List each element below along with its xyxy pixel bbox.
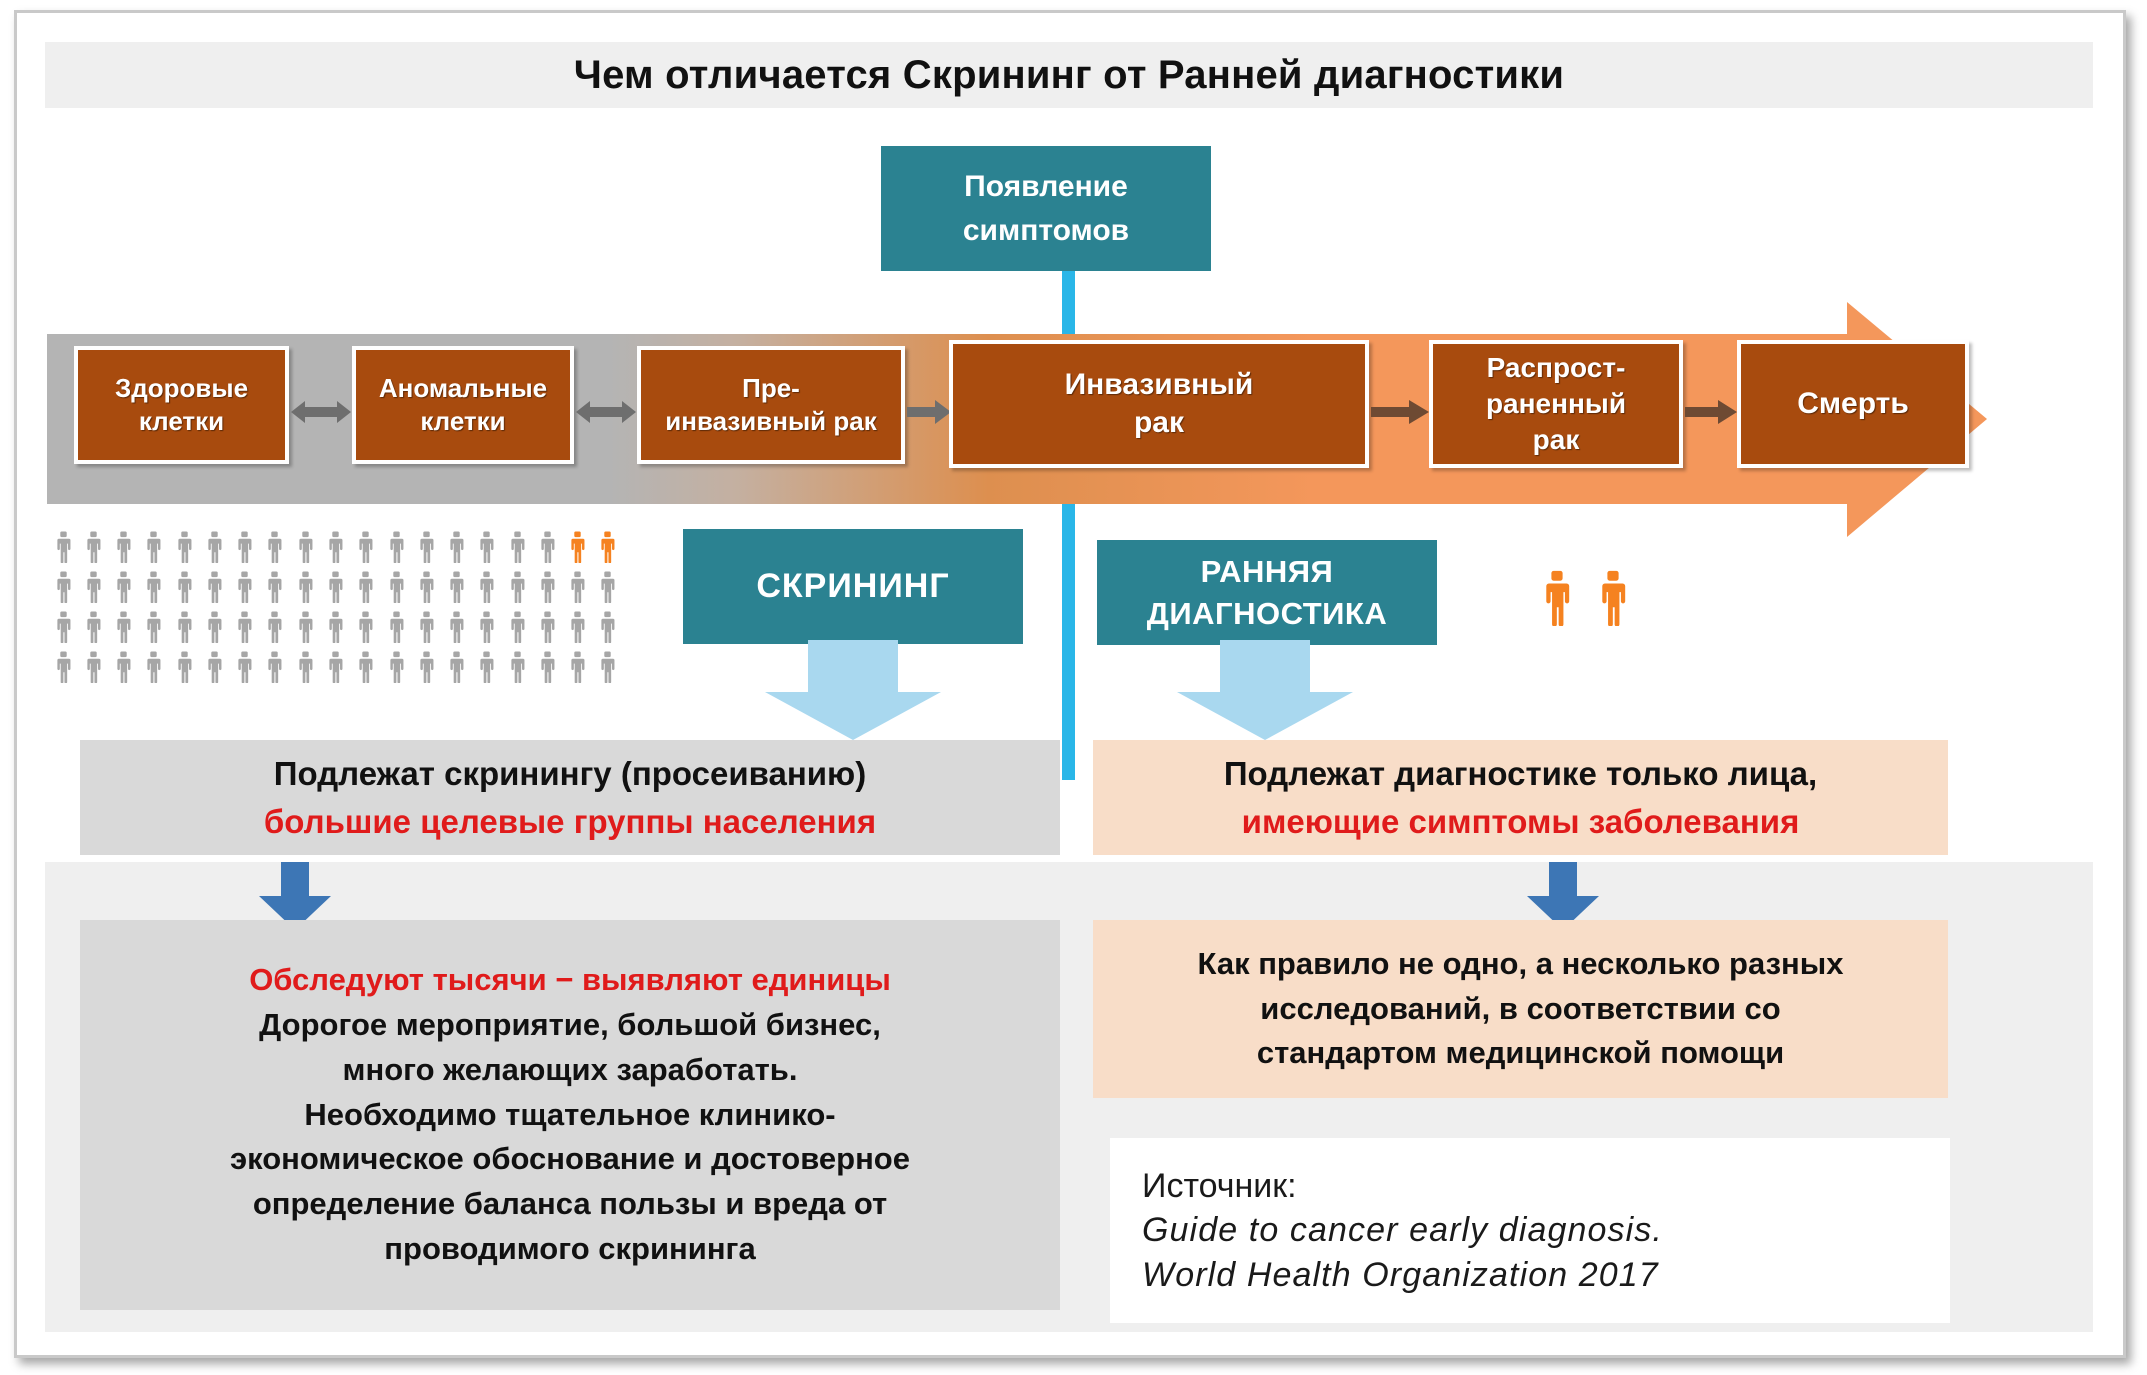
connector-double-arrow-1 xyxy=(291,397,351,427)
person-icon xyxy=(477,571,496,603)
person-highlighted xyxy=(593,527,623,567)
person-grey xyxy=(290,607,320,647)
person-grey xyxy=(351,527,381,567)
person-icon xyxy=(598,651,617,683)
person-grey xyxy=(230,567,260,607)
person-highlighted xyxy=(562,527,592,567)
person-icon xyxy=(356,611,375,643)
person-grey xyxy=(260,607,290,647)
person-icon xyxy=(568,651,587,683)
person-grey xyxy=(502,607,532,647)
person-grey xyxy=(109,567,139,607)
connector-arrow-5 xyxy=(1685,397,1737,427)
person-icon xyxy=(114,571,133,603)
person-icon xyxy=(538,571,557,603)
stage-1-line-1: Аномальные xyxy=(379,373,547,403)
person-grey xyxy=(78,647,108,687)
person-icon xyxy=(387,651,406,683)
person-grey xyxy=(411,527,441,567)
connector-arrow-4 xyxy=(1371,397,1429,427)
person-icon xyxy=(84,611,103,643)
screening-detail-line-7: проводимого скрининга xyxy=(384,1227,755,1272)
person-icon xyxy=(508,571,527,603)
person-grey xyxy=(320,607,350,647)
person-icon xyxy=(568,531,587,563)
stage-box-preinvasive-cancer: Пре- инвазивный рак xyxy=(637,346,905,464)
stage-3-line-2: рак xyxy=(1134,406,1184,439)
screening-detail-line-6: определение баланса пользы и вреда от xyxy=(253,1182,887,1227)
person-icon xyxy=(447,531,466,563)
person-icon xyxy=(477,651,496,683)
person-icon xyxy=(205,611,224,643)
person-icon xyxy=(447,651,466,683)
person-icon xyxy=(508,611,527,643)
stage-5-line-1: Смерть xyxy=(1797,385,1909,423)
person-grey xyxy=(562,647,592,687)
person-grey xyxy=(230,527,260,567)
person-grey xyxy=(109,647,139,687)
person-grey xyxy=(290,527,320,567)
screening-detail-line-4: Необходимо тщательное клинико- xyxy=(304,1093,835,1138)
person-icon xyxy=(568,571,587,603)
person-grey xyxy=(320,647,350,687)
stage-1-line-2: клетки xyxy=(420,406,505,436)
person-grey xyxy=(320,567,350,607)
diagnosis-target-line-2: имеющие симптомы заболевания xyxy=(1242,798,1800,846)
person-grey xyxy=(472,567,502,607)
person-icon xyxy=(205,651,224,683)
person-grey xyxy=(351,607,381,647)
stage-4-line-2: раненный xyxy=(1486,388,1626,419)
person-icon xyxy=(114,611,133,643)
person-grey xyxy=(351,647,381,687)
person-icon xyxy=(538,611,557,643)
person-icon xyxy=(538,651,557,683)
person-grey xyxy=(78,567,108,607)
person-icon xyxy=(144,571,163,603)
person-icon xyxy=(387,611,406,643)
screening-detail-line-2: Дорогое мероприятие, большой бизнес, xyxy=(259,1003,881,1048)
person-grey xyxy=(502,647,532,687)
stage-box-healthy-cells: Здоровые клетки xyxy=(74,346,289,464)
person-grey xyxy=(169,607,199,647)
person-icon xyxy=(356,651,375,683)
person-icon xyxy=(326,571,345,603)
person-grey xyxy=(199,647,229,687)
person-grey xyxy=(562,567,592,607)
screening-detail-line-1: Обследуют тысячи − выявляют единицы xyxy=(249,958,891,1003)
person-icon xyxy=(296,611,315,643)
person-icon xyxy=(447,611,466,643)
stage-box-invasive-cancer: Инвазивный рак xyxy=(949,340,1369,468)
person-grey xyxy=(290,567,320,607)
person-grey xyxy=(351,567,381,607)
person-icon xyxy=(1596,570,1630,626)
person-grey xyxy=(230,647,260,687)
early-diagnosis-label-box: РАННЯЯ ДИАГНОСТИКА xyxy=(1097,540,1437,645)
stage-0-line-2: клетки xyxy=(139,406,224,436)
stage-0-line-1: Здоровые xyxy=(115,373,248,403)
person-icon xyxy=(54,651,73,683)
person-grey xyxy=(411,567,441,607)
panel-screening-target: Подлежат скринингу (просеиванию) большие… xyxy=(80,740,1060,855)
person-icon xyxy=(175,571,194,603)
person-grey xyxy=(502,567,532,607)
person-grey xyxy=(381,647,411,687)
person-icon xyxy=(84,531,103,563)
person-icon xyxy=(114,651,133,683)
person-icon xyxy=(144,611,163,643)
person-grey xyxy=(260,567,290,607)
stage-2-line-2: инвазивный рак xyxy=(665,406,876,436)
person-icon xyxy=(175,611,194,643)
diagnosis-detail-line-1: Как правило не одно, а несколько разных xyxy=(1198,942,1844,987)
person-icon xyxy=(84,571,103,603)
source-line-1: Guide to cancer early diagnosis. xyxy=(1142,1208,1950,1253)
person-icon xyxy=(447,571,466,603)
person-icon xyxy=(598,531,617,563)
person-grey xyxy=(532,527,562,567)
person-icon xyxy=(417,531,436,563)
person-grey xyxy=(441,647,471,687)
person-icon xyxy=(326,611,345,643)
connector-arrow-3 xyxy=(907,397,951,427)
person-icon xyxy=(265,571,284,603)
screening-label-box: СКРИНИНГ xyxy=(683,529,1023,644)
person-grey xyxy=(199,607,229,647)
person-grey xyxy=(472,647,502,687)
person-grey xyxy=(260,647,290,687)
person-icon xyxy=(356,531,375,563)
person-icon xyxy=(356,571,375,603)
person-grey xyxy=(230,607,260,647)
early-diagnosis-down-arrow xyxy=(1148,640,1382,745)
symptoms-line-1: Появление xyxy=(964,165,1128,209)
symptomatic-people-pair xyxy=(1540,570,1645,630)
panel-diagnosis-target: Подлежат диагностике только лица, имеющи… xyxy=(1093,740,1948,855)
person-icon xyxy=(235,531,254,563)
source-line-2: World Health Organization 2017 xyxy=(1142,1253,1950,1298)
population-people-grid xyxy=(48,527,623,687)
person-icon xyxy=(477,531,496,563)
person-icon xyxy=(387,531,406,563)
person-grey xyxy=(562,607,592,647)
title-bar: Чем отличается Скрининг от Ранней диагно… xyxy=(45,42,2093,108)
person-grey xyxy=(411,647,441,687)
person-grey xyxy=(411,607,441,647)
earlydiag-line-1: РАННЯЯ xyxy=(1201,554,1334,589)
person-grey xyxy=(48,527,78,567)
person-grey xyxy=(472,527,502,567)
person-grey xyxy=(169,647,199,687)
person-grey xyxy=(199,527,229,567)
person-grey xyxy=(199,567,229,607)
person-icon xyxy=(205,571,224,603)
symptoms-line-2: симптомов xyxy=(963,209,1129,253)
person-icon xyxy=(417,611,436,643)
person-grey xyxy=(320,527,350,567)
stage-box-death: Смерть xyxy=(1737,340,1969,468)
person-icon xyxy=(235,571,254,603)
source-citation-box: Источник: Guide to cancer early diagnosi… xyxy=(1110,1138,1950,1323)
person-icon xyxy=(326,651,345,683)
screening-detail-line-3: много желающих заработать. xyxy=(343,1048,798,1093)
person-icon xyxy=(54,611,73,643)
stage-4-line-1: Распрост- xyxy=(1487,352,1626,383)
person-icon xyxy=(508,531,527,563)
person-icon xyxy=(235,611,254,643)
screening-detail-line-5: экономическое обоснование и достоверное xyxy=(230,1137,910,1182)
source-label: Источник: xyxy=(1142,1164,1950,1208)
stage-box-advanced-cancer: Распрост- раненный рак xyxy=(1429,340,1683,468)
person-grey xyxy=(532,647,562,687)
person-grey xyxy=(593,567,623,607)
diagnosis-detail-line-3: стандартом медицинской помощи xyxy=(1257,1031,1784,1076)
person-icon xyxy=(417,571,436,603)
diagnosis-target-line-1: Подлежат диагностике только лица, xyxy=(1224,750,1817,798)
panel-screening-details: Обследуют тысячи − выявляют единицы Доро… xyxy=(80,920,1060,1310)
stage-3-line-1: Инвазивный xyxy=(1065,368,1254,401)
disease-progression-arrow: Здоровые клетки Аномальные клетки Пре- и… xyxy=(47,302,1987,537)
person-icon xyxy=(144,531,163,563)
person-grey xyxy=(441,527,471,567)
person-grey xyxy=(109,607,139,647)
person-icon xyxy=(417,651,436,683)
person-grey xyxy=(441,567,471,607)
person-grey xyxy=(381,527,411,567)
infographic-root: Чем отличается Скрининг от Ранней диагно… xyxy=(0,0,2147,1375)
symptoms-appearance-box: Появление симптомов xyxy=(881,146,1211,271)
stage-4-line-3: рак xyxy=(1533,424,1580,455)
person-grey xyxy=(169,567,199,607)
panel-diagnosis-details: Как правило не одно, а несколько разных … xyxy=(1093,920,1948,1098)
person-icon xyxy=(54,531,73,563)
person-icon xyxy=(175,531,194,563)
screening-label: СКРИНИНГ xyxy=(756,564,949,610)
person-grey xyxy=(78,607,108,647)
person-icon xyxy=(175,651,194,683)
person-grey xyxy=(48,647,78,687)
person-icon xyxy=(296,651,315,683)
person-icon xyxy=(538,531,557,563)
person-grey xyxy=(139,527,169,567)
person-grey xyxy=(260,527,290,567)
person-icon xyxy=(477,611,496,643)
person-icon xyxy=(598,611,617,643)
person-icon xyxy=(1540,570,1574,626)
person-icon xyxy=(235,651,254,683)
person-grey xyxy=(78,527,108,567)
person-grey xyxy=(472,607,502,647)
screening-down-arrow xyxy=(736,640,970,745)
person-grey xyxy=(593,607,623,647)
person-grey xyxy=(381,607,411,647)
person-grey xyxy=(532,607,562,647)
person-grey xyxy=(532,567,562,607)
person-icon xyxy=(84,651,103,683)
person-icon xyxy=(296,531,315,563)
earlydiag-line-2: ДИАГНОСТИКА xyxy=(1147,596,1387,631)
person-grey xyxy=(593,647,623,687)
person-icon xyxy=(326,531,345,563)
person-grey xyxy=(109,527,139,567)
person-icon xyxy=(205,531,224,563)
person-icon xyxy=(114,531,133,563)
person-grey xyxy=(290,647,320,687)
person-icon xyxy=(387,571,406,603)
person-grey xyxy=(441,607,471,647)
person-grey xyxy=(381,567,411,607)
person-icon xyxy=(265,651,284,683)
person-icon xyxy=(296,571,315,603)
person-icon xyxy=(144,651,163,683)
person-grey xyxy=(139,607,169,647)
person-icon xyxy=(54,571,73,603)
stage-2-line-1: Пре- xyxy=(742,373,800,403)
person-icon xyxy=(265,531,284,563)
person-grey xyxy=(169,527,199,567)
connector-double-arrow-2 xyxy=(576,397,636,427)
stage-box-abnormal-cells: Аномальные клетки xyxy=(352,346,574,464)
person-grey xyxy=(139,567,169,607)
person-grey xyxy=(139,647,169,687)
person-icon xyxy=(598,571,617,603)
person-icon xyxy=(508,651,527,683)
person-grey xyxy=(502,527,532,567)
page-title: Чем отличается Скрининг от Ранней диагно… xyxy=(574,53,1564,98)
person-grey xyxy=(48,607,78,647)
screening-target-line-2: большие целевые группы населения xyxy=(264,798,876,846)
screening-target-line-1: Подлежат скринингу (просеиванию) xyxy=(274,750,866,798)
person-icon xyxy=(568,611,587,643)
person-grey xyxy=(48,567,78,607)
person-icon xyxy=(265,611,284,643)
diagnosis-detail-line-2: исследований, в соответствии со xyxy=(1260,987,1780,1032)
